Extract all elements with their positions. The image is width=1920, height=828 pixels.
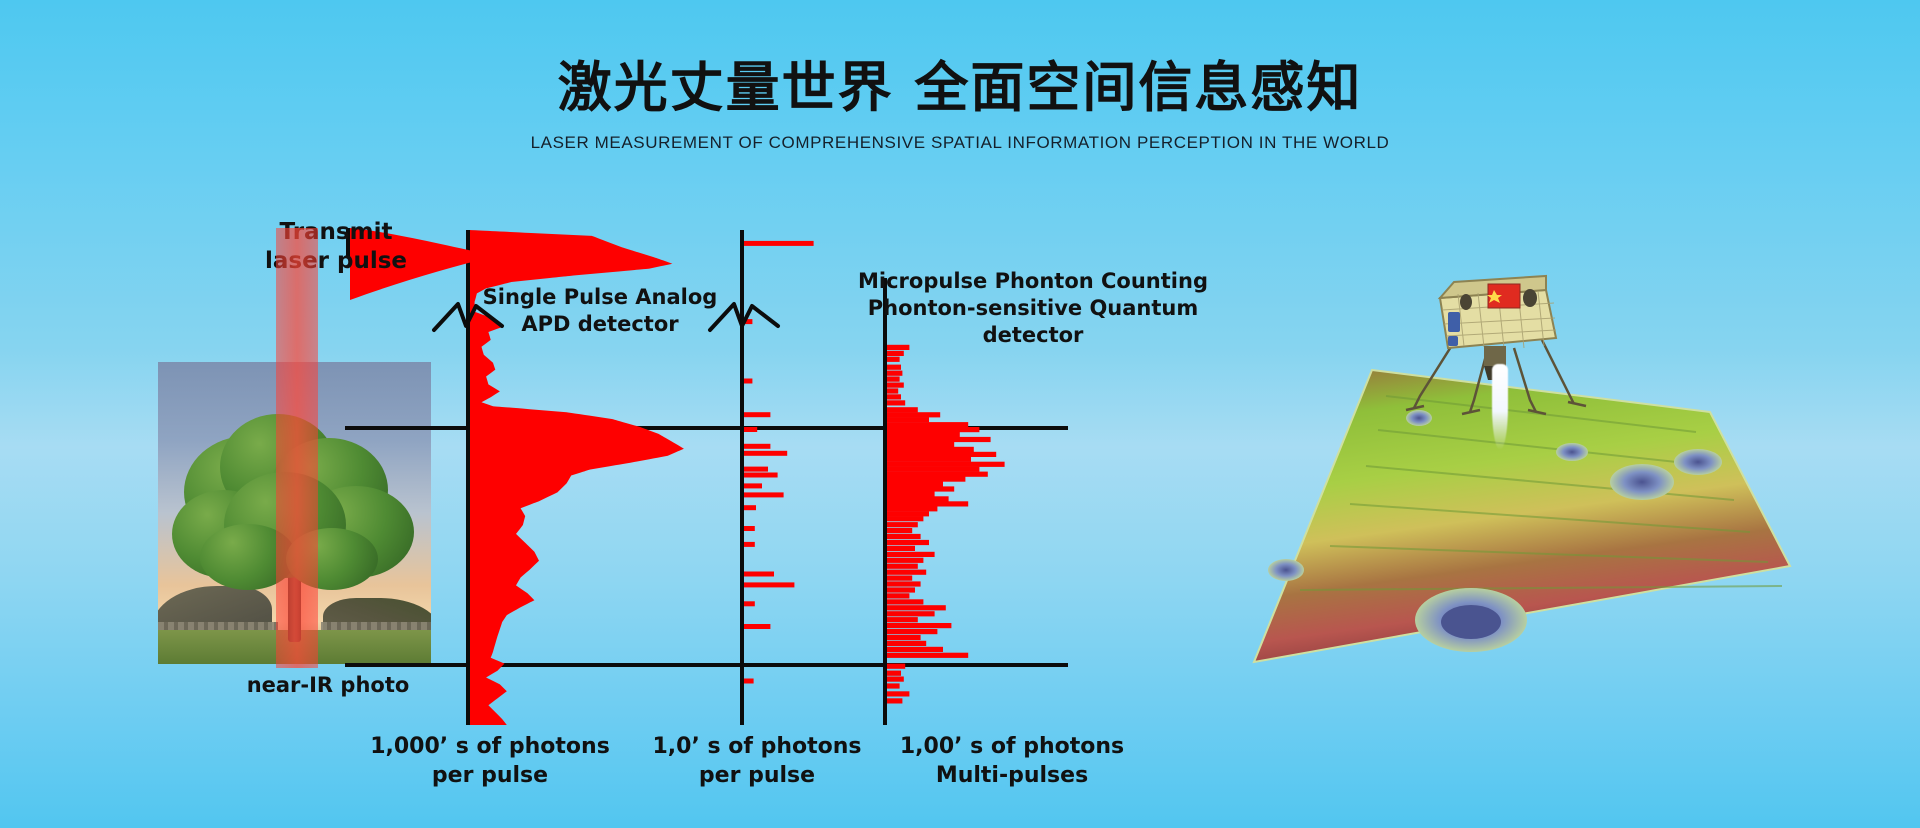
micropulse-detector-label: Micropulse Phonton CountingPhonton-sensi… (818, 268, 1248, 349)
transmit-laser-pulse-label: Transmitlaser pulse (236, 218, 436, 277)
plot2-axis-label: 1,0’ s of photonsper pulse (632, 733, 882, 790)
lidar-diagram: Transmitlaser pulse Single Pulse AnalogA… (0, 0, 1920, 828)
plot1-axis-break-icon (432, 292, 504, 344)
near-ir-photo-label: near-IR photo (218, 672, 438, 699)
lidar-terrain-model (1190, 270, 1810, 690)
lander-exhaust-plume (1492, 364, 1508, 450)
plot1-axis-label: 1,000’ s of photonsper pulse (340, 733, 640, 790)
plot2-axis-break-icon (708, 292, 780, 344)
transmit-laser-beam (276, 228, 318, 668)
plot3-axis-label: 1,00’ s of photonsMulti-pulses (872, 733, 1152, 790)
